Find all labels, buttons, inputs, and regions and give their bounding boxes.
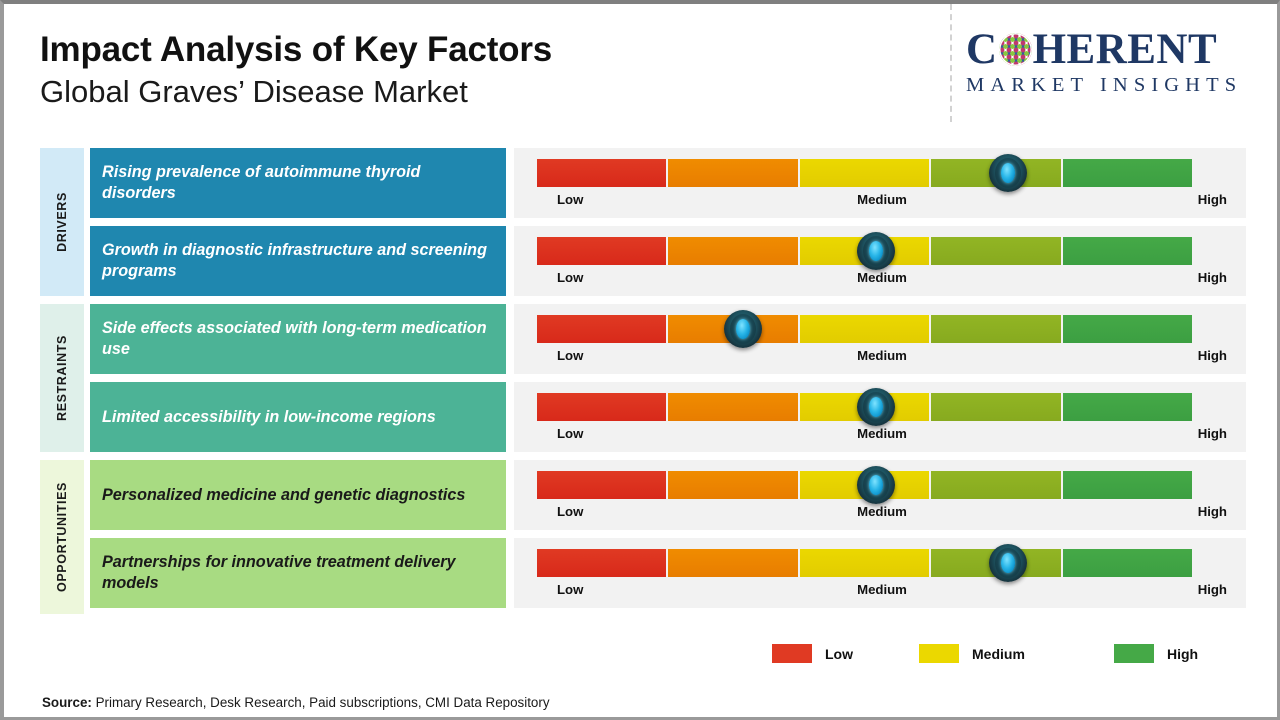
impact-marker[interactable] [857,466,895,504]
gauge-segment-medium [800,159,929,187]
impact-gauge: Low Medium High [514,304,1246,374]
legend-item-high: High [1114,644,1198,663]
scale-label-medium: Medium [857,192,907,207]
table-row: Partnerships for innovative treatment de… [4,534,1280,612]
impact-marker[interactable] [989,544,1027,582]
gauge-segment-high [1063,471,1192,499]
scale-label-low: Low [557,348,583,363]
factor-label: Rising prevalence of autoimmune thyroid … [90,148,506,218]
impact-marker[interactable] [857,388,895,426]
scale-label-medium: Medium [857,582,907,597]
gauge-segment-medium [800,549,929,577]
scale-label-medium: Medium [857,426,907,441]
logo-tagline: MARKET INSIGHTS [966,74,1266,97]
gauge-track [537,549,1192,577]
globe-dots-icon [999,33,1032,66]
gauge-segment-orange [668,159,797,187]
gauge-segment-orange [668,237,797,265]
impact-marker[interactable] [989,154,1027,192]
gauge-segment-low [537,393,666,421]
page-subtitle: Global Graves’ Disease Market [40,73,552,110]
factor-label: Side effects associated with long-term m… [90,304,506,374]
gauge-segment-low [537,237,666,265]
impact-gauge: Low Medium High [514,382,1246,452]
impact-marker[interactable] [724,310,762,348]
impact-gauge: Low Medium High [514,148,1246,218]
scale-labels: Low Medium High [537,192,1227,212]
scale-label-high: High [1198,504,1227,519]
scale-labels: Low Medium High [537,426,1227,446]
gauge-segment-yellowgreen [931,315,1060,343]
factor-label: Personalized medicine and genetic diagno… [90,460,506,530]
gauge-segment-orange [668,549,797,577]
coherent-market-insights-logo: C HERENT MARKET INSIGHTS [966,26,1266,97]
gauge-segment-orange [668,471,797,499]
source-note: Source: Primary Research, Desk Research,… [42,695,550,710]
marker-core-icon [869,475,883,495]
gauge-segment-yellowgreen [931,393,1060,421]
legend: Low Medium High [4,644,1280,678]
gauge-segment-orange [668,393,797,421]
impact-gauge: Low Medium High [514,226,1246,296]
marker-core-icon [1001,553,1015,573]
logo-wordmark-rest: HERENT [1033,28,1218,71]
gauge-segment-high [1063,237,1192,265]
scale-label-high: High [1198,348,1227,363]
factor-label: Partnerships for innovative treatment de… [90,538,506,608]
scale-label-high: High [1198,426,1227,441]
legend-swatch-medium [919,644,959,663]
scale-label-medium: Medium [857,504,907,519]
gauge-segment-yellowgreen [931,237,1060,265]
gauge-segment-medium [800,315,929,343]
legend-item-low: Low [772,644,853,663]
page-title: Impact Analysis of Key Factors [40,30,552,69]
scale-label-high: High [1198,270,1227,285]
scale-label-low: Low [557,192,583,207]
slide-canvas: Impact Analysis of Key Factors Global Gr… [0,0,1280,720]
header: Impact Analysis of Key Factors Global Gr… [4,4,1277,134]
scale-label-low: Low [557,504,583,519]
table-row: Rising prevalence of autoimmune thyroid … [4,144,1280,222]
gauge-segment-yellowgreen [931,471,1060,499]
gauge-segment-high [1063,315,1192,343]
marker-core-icon [1001,163,1015,183]
scale-label-low: Low [557,270,583,285]
gauge-segment-high [1063,549,1192,577]
impact-gauge: Low Medium High [514,460,1246,530]
table-row: Side effects associated with long-term m… [4,300,1280,378]
legend-swatch-low [772,644,812,663]
scale-label-medium: Medium [857,270,907,285]
marker-core-icon [869,241,883,261]
scale-labels: Low Medium High [537,348,1227,368]
logo-letter-c: C [966,28,998,71]
table-row: Personalized medicine and genetic diagno… [4,456,1280,534]
gauge-segment-low [537,471,666,499]
source-label: Source: [42,695,92,710]
scale-labels: Low Medium High [537,582,1227,602]
impact-matrix: DRIVERS RESTRAINTS OPPORTUNITIES Rising … [4,144,1280,612]
legend-label-high: High [1167,646,1198,662]
scale-label-low: Low [557,426,583,441]
legend-swatch-high [1114,644,1154,663]
marker-core-icon [736,319,750,339]
table-row: Growth in diagnostic infrastructure and … [4,222,1280,300]
gauge-segment-high [1063,159,1192,187]
scale-label-low: Low [557,582,583,597]
gauge-track [537,315,1192,343]
impact-marker[interactable] [857,232,895,270]
gauge-segment-high [1063,393,1192,421]
marker-core-icon [869,397,883,417]
factor-label: Growth in diagnostic infrastructure and … [90,226,506,296]
logo-wordmark: C HERENT [966,26,1266,72]
gauge-segment-low [537,315,666,343]
source-text: Primary Research, Desk Research, Paid su… [92,695,550,710]
impact-gauge: Low Medium High [514,538,1246,608]
title-block: Impact Analysis of Key Factors Global Gr… [40,30,552,110]
gauge-track [537,159,1192,187]
legend-label-medium: Medium [972,646,1025,662]
gauge-segment-low [537,159,666,187]
factor-label: Limited accessibility in low-income regi… [90,382,506,452]
scale-labels: Low Medium High [537,504,1227,524]
dashed-divider [950,4,952,122]
table-row: Limited accessibility in low-income regi… [4,378,1280,456]
legend-item-medium: Medium [919,644,1025,663]
scale-label-medium: Medium [857,348,907,363]
scale-label-high: High [1198,192,1227,207]
scale-label-high: High [1198,582,1227,597]
gauge-segment-low [537,549,666,577]
legend-label-low: Low [825,646,853,662]
scale-labels: Low Medium High [537,270,1227,290]
